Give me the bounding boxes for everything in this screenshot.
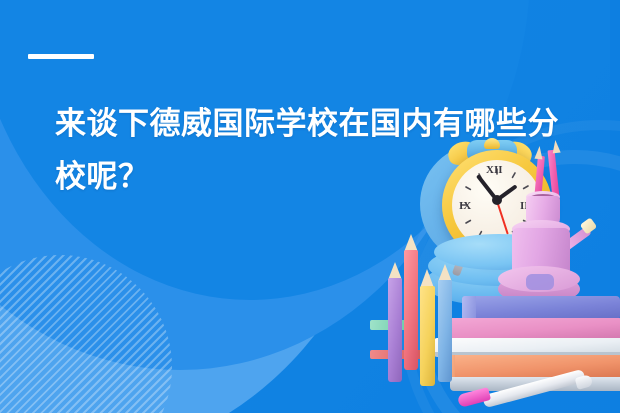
pencil-purple-icon: [388, 278, 402, 382]
promo-banner: 来谈下德威国际学校在国内有哪些分校呢？: [0, 0, 620, 413]
holder-pencil-pink-1-tip-icon: [534, 146, 543, 160]
pen-holder-accent-patch-icon: [526, 274, 554, 290]
pencil-yellow-icon: [420, 286, 435, 386]
clock-numeral-12: XII: [486, 165, 503, 176]
clock-numeral-9: IX: [459, 201, 471, 212]
holder-pencil-pink-2-tip-icon: [551, 140, 560, 154]
book-purple-spine-icon: [462, 296, 476, 320]
accent-dash: [28, 54, 94, 59]
clock-center-pin-icon: [492, 195, 502, 205]
clock-knob-icon: [484, 138, 500, 149]
book-orange-icon: [442, 355, 620, 379]
pencil-blue-icon: [438, 280, 452, 382]
stationery-illustration: XII III VI IX: [330, 138, 620, 413]
book-pink-icon: [438, 318, 620, 340]
book-purple-icon: [462, 296, 620, 320]
pencil-red-icon: [404, 250, 418, 370]
